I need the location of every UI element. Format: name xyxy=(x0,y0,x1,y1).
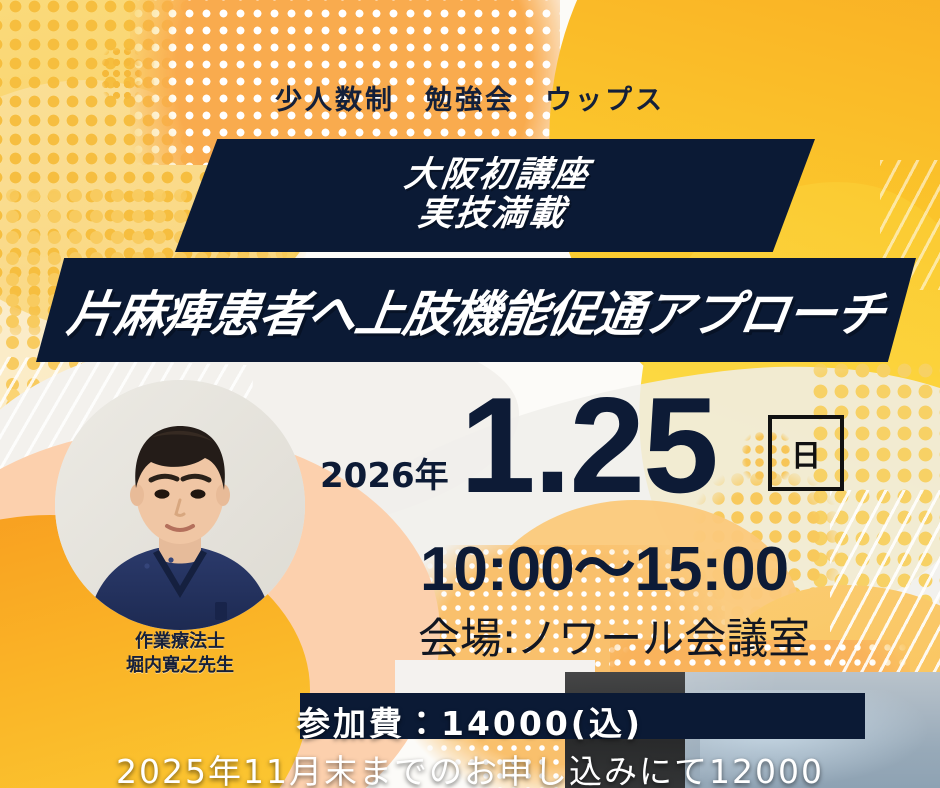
time-text: 10:00〜15:00 xyxy=(420,518,920,608)
kicker-text: 少人数制 勉強会 ウップス xyxy=(0,78,940,117)
highlight-banner: 大阪初講座 実技満載 xyxy=(175,139,815,252)
speaker-caption: 作業療法士 堀内寛之先生 xyxy=(30,630,330,679)
highlight-banner-lines: 大阪初講座 実技満載 xyxy=(398,156,593,234)
speaker-portrait-illustration xyxy=(55,380,305,630)
highlight-line-1: 大阪初講座 xyxy=(402,156,592,195)
weekday-badge: 日 xyxy=(768,415,844,491)
highlight-line-2: 実技満載 xyxy=(398,196,588,235)
venue-text: 会場:ノワール会議室 xyxy=(418,605,938,666)
date-block: 2026年 1.25 日 xyxy=(300,390,900,515)
speaker-name: 堀内寛之先生 xyxy=(30,654,330,678)
date-month-day: 1.25 xyxy=(460,377,717,513)
date-year: 2026年 xyxy=(320,448,449,497)
speaker-role: 作業療法士 xyxy=(30,630,330,654)
speaker-portrait xyxy=(55,380,305,630)
fee-line-2: 2025年11月末までのお申し込みにて12000 xyxy=(0,745,940,788)
seminar-flyer: 少人数制 勉強会 ウップス 大阪初講座 実技満載 片麻痺患者へ上肢機能促通アプロ… xyxy=(0,0,940,788)
fee-line-1: 参加費：14000(込) xyxy=(0,697,940,745)
seminar-title: 片麻痺患者へ上肢機能促通アプローチ xyxy=(63,275,889,346)
title-banner: 片麻痺患者へ上肢機能促通アプローチ xyxy=(36,258,916,362)
